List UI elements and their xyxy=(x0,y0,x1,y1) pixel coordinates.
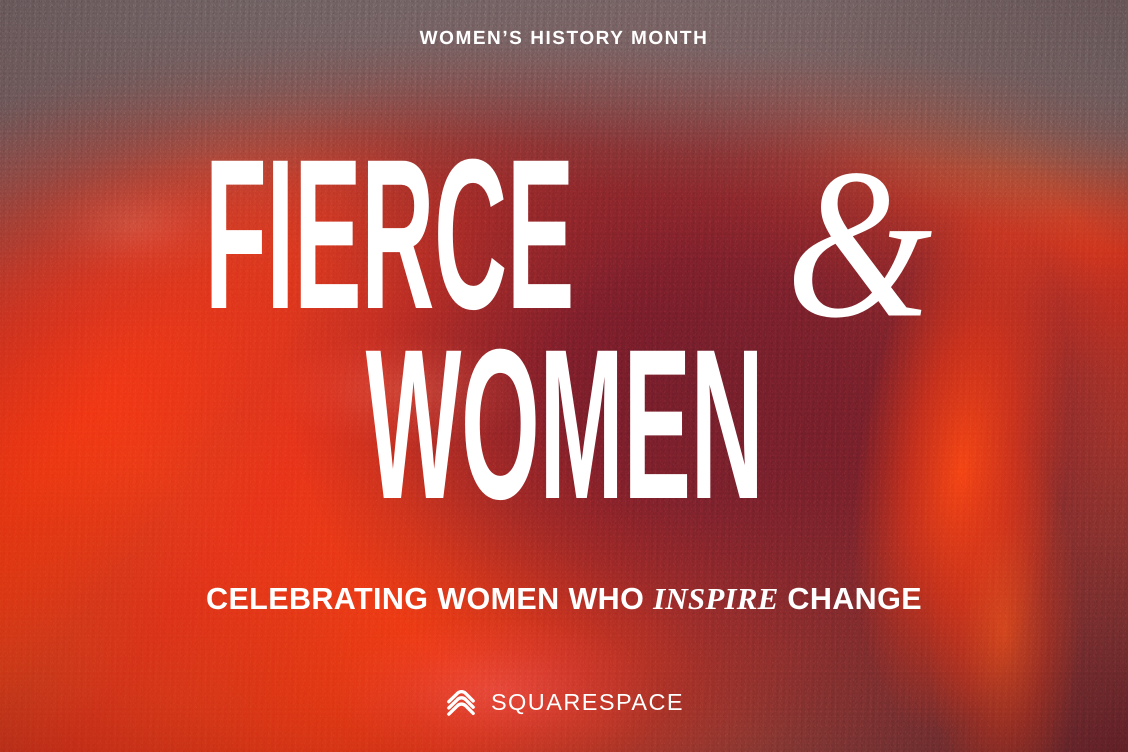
subtitle-after-text: CHANGE xyxy=(779,582,922,616)
headline-line-2: WOMEN xyxy=(0,335,1128,515)
brand-footer: SQUARESPACE xyxy=(0,689,1128,717)
headline-block: FIERCE & FEARLESS WOMEN xyxy=(0,145,1128,515)
subtitle-tagline: CELEBRATING WOMEN WHO INSPIRE CHANGE xyxy=(206,583,922,615)
subtitle-emphasis-inspire: INSPIRE xyxy=(653,581,778,616)
headline-word-women: WOMEN xyxy=(365,335,763,515)
headline-line-1: FIERCE & FEARLESS xyxy=(0,145,1128,327)
poster-content: WOMEN’S HISTORY MONTH FIERCE & FEARLESS … xyxy=(0,0,1128,752)
kicker-eyebrow-text: WOMEN’S HISTORY MONTH xyxy=(420,29,709,48)
squarespace-wordmark: SQUARESPACE xyxy=(491,691,684,715)
squarespace-logo-mark xyxy=(444,689,478,717)
ampersand-glyph: & xyxy=(786,154,932,334)
headline-word-fierce: FIERCE xyxy=(205,145,574,325)
subtitle-before-text: CELEBRATING WOMEN WHO xyxy=(206,582,653,616)
promotional-poster: WOMEN’S HISTORY MONTH FIERCE & FEARLESS … xyxy=(0,0,1128,752)
squarespace-loops-logo-icon xyxy=(444,689,478,717)
